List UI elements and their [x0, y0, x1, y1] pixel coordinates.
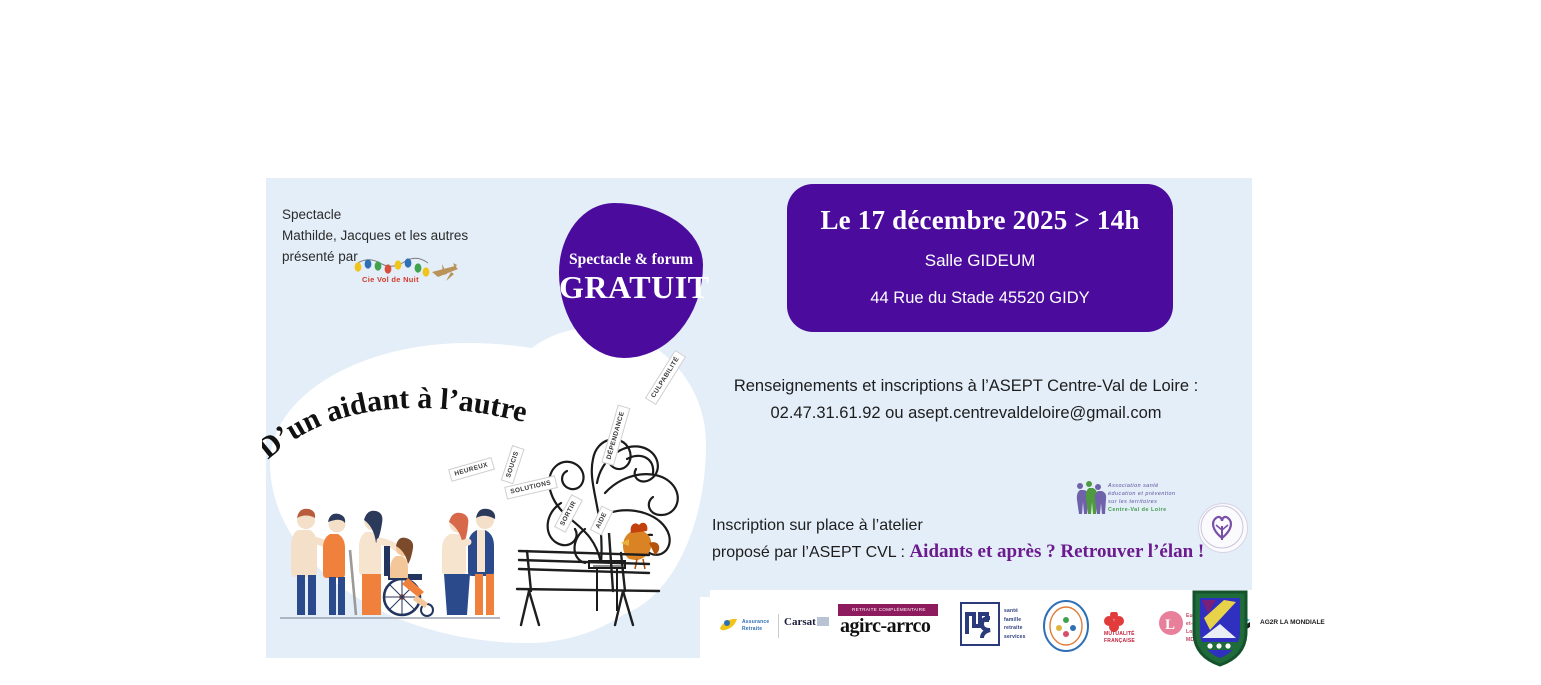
contact-line-2: 02.47.31.61.92 ou asept.centrevaldeloire…	[706, 400, 1226, 427]
asept-logo: Association santé éducation et préventio…	[1072, 480, 1202, 528]
contact-block: Renseignements et inscriptions à l’ASEPT…	[706, 373, 1226, 427]
logo-town-coat-of-arms	[1190, 588, 1250, 668]
msa-line-1: santé	[1004, 607, 1026, 616]
spectacle-line-1: Spectacle	[282, 204, 522, 225]
logo-carsat: Carsat	[778, 614, 831, 638]
cie-vol-de-nuit-label: Cie Vol de Nuit	[362, 275, 419, 284]
asept-line-3: sur les territoires	[1108, 498, 1176, 506]
mutualite-line-1: MUTUALITÉ	[1104, 631, 1135, 638]
event-date: Le 17 décembre 2025 > 14h	[787, 205, 1173, 236]
carsat-label: Carsat	[784, 616, 816, 628]
blob-line-2: GRATUIT	[559, 269, 703, 306]
msa-line-4: services	[1004, 633, 1026, 642]
wheelchair-user	[384, 538, 433, 616]
poster: Spectacle Mathilde, Jacques et les autre…	[266, 178, 1252, 658]
ag2r-label: AG2R LA MONDIALE	[1260, 619, 1325, 626]
partner-logo-strip: Assurance Retraite Carsat RETRAITE COMPL…	[710, 590, 1252, 668]
event-address: 44 Rue du Stade 45520 GIDY	[787, 289, 1173, 308]
logo-agirc-arrco: RETRAITE COMPLÉMENTAIRE agirc-arrco	[838, 604, 938, 644]
inscription-line-2: proposé par l’ASEPT CVL : Aidants et apr…	[712, 539, 1252, 566]
blob-line-1: Spectacle & forum	[559, 251, 703, 269]
asept-logo-mark	[1072, 480, 1108, 520]
msa-line-3: retraite	[1004, 624, 1026, 633]
workshop-title: Aidants et après ? Retrouver l’élan !	[909, 541, 1204, 562]
asept-logo-text: Association santé éducation et préventio…	[1108, 482, 1176, 514]
svg-text:L: L	[1165, 617, 1175, 633]
agirc-banner-text: RETRAITE COMPLÉMENTAIRE	[852, 607, 926, 612]
heart-badge-logo	[1198, 503, 1248, 553]
event-date-box: Le 17 décembre 2025 > 14h Salle GIDEUM 4…	[787, 184, 1173, 332]
asept-line-4: Centre-Val de Loire	[1108, 506, 1176, 514]
logo-msa: santé famille retraite services	[960, 602, 1000, 651]
assurance-line-1: Assurance	[742, 619, 769, 626]
cie-vol-de-nuit-logo: Cie Vol de Nuit	[354, 250, 460, 292]
mutualite-line-2: FRANÇAISE	[1104, 638, 1135, 645]
inscription-prefix: proposé par l’ASEPT CVL :	[712, 544, 909, 561]
logo-mutualite-francaise: MUTUALITÉ FRANÇAISE	[1100, 612, 1134, 639]
person-woman-red	[442, 513, 470, 615]
asept-line-1: Association santé	[1108, 482, 1176, 490]
logo-circle-badge	[1042, 600, 1090, 657]
event-venue: Salle GIDEUM	[787, 251, 1173, 271]
gratuit-blob: Spectacle & forum GRATUIT	[559, 203, 703, 358]
person-woman-cane	[323, 514, 356, 615]
msa-line-2: famille	[1004, 616, 1026, 625]
assurance-line-2: Retraite	[742, 626, 769, 633]
logo-assurance-retraite: Assurance Retraite	[718, 616, 740, 641]
arch-title-text: D’un aidant à l’autre	[262, 382, 530, 465]
agirc-label: agirc-arrco	[840, 615, 930, 638]
logo-eure-et-loir: L Eure- et-Loir MDA	[1158, 610, 1184, 641]
bench-illustration	[509, 533, 669, 633]
carsat-mark	[817, 617, 829, 626]
airplane-icon	[432, 263, 458, 281]
spectacle-line-2: Mathilde, Jacques et les autres	[282, 225, 522, 246]
asept-line-2: éducation et prévention	[1108, 490, 1176, 498]
contact-line-1: Renseignements et inscriptions à l’ASEPT…	[706, 373, 1226, 400]
people-illustration	[280, 478, 500, 628]
